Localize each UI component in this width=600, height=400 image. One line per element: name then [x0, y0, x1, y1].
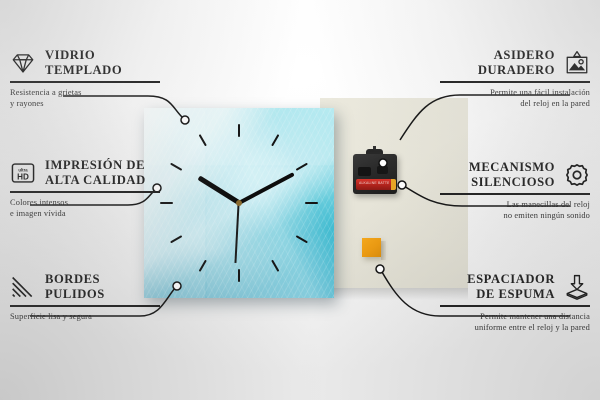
mechanism-detail-left: [358, 167, 371, 176]
feature-vidrio-templado: VIDRIO TEMPLADO Resistencia a grietas y …: [10, 48, 218, 110]
clock-tick: [238, 124, 240, 137]
ultra-hd-small-text: ultra: [18, 167, 28, 172]
diamond-icon: [10, 50, 36, 76]
feature-divider: [10, 81, 160, 82]
clock-tick: [238, 269, 240, 282]
feature-espaciador-espuma: ESPACIADOR DE ESPUMA Permite mantener un…: [382, 272, 590, 334]
clock-tick: [305, 202, 318, 204]
picture-hanger-icon: [564, 50, 590, 76]
feature-description: Permite una fácil instalación del reloj …: [382, 87, 590, 110]
feature-divider: [10, 191, 160, 192]
feature-divider: [440, 193, 590, 194]
feature-divider: [440, 305, 590, 306]
feature-divider: [440, 81, 590, 82]
foam-spacer: [362, 238, 381, 257]
clock-hand-cap: [236, 200, 242, 206]
feature-title: ASIDERO DURADERO: [478, 48, 555, 77]
feature-divider: [10, 305, 160, 306]
feature-title: ESPACIADOR DE ESPUMA: [467, 272, 555, 301]
feature-title: VIDRIO TEMPLADO: [45, 48, 122, 77]
feature-description: Permite mantener una distancia uniforme …: [382, 311, 590, 334]
feature-title: MECANISMO SILENCIOSO: [469, 160, 555, 189]
feature-title: IMPRESIÓN DE ALTA CALIDAD: [45, 158, 146, 187]
feature-title: BORDES PULIDOS: [45, 272, 105, 301]
infographic-canvas: ALKALINE BATTERY AA: [0, 0, 600, 400]
ultra-hd-big-text: HD: [17, 172, 29, 181]
feature-impresion-alta-calidad: ultra HD IMPRESIÓN DE ALTA CALIDAD Color…: [10, 158, 218, 220]
feature-description: Resistencia a grietas y rayones: [10, 87, 218, 110]
feature-bordes-pulidos: BORDES PULIDOS Superficie lisa y segura: [10, 272, 218, 322]
foam-spacer-side: [381, 241, 386, 260]
foam-spacer-arrow-icon: [564, 274, 590, 300]
feature-description: Las manecillas del reloj no emiten ningú…: [382, 199, 590, 222]
feature-description: Colores intensos e imagen vívida: [10, 197, 218, 220]
ultra-hd-badge-icon: ultra HD: [10, 160, 36, 186]
feature-mecanismo-silencioso: MECANISMO SILENCIOSO Las manecillas del …: [382, 160, 590, 222]
polished-edges-icon: [10, 274, 36, 300]
gear-icon: [564, 162, 590, 188]
feature-asidero-duradero: ASIDERO DURADERO Permite una fácil insta…: [382, 48, 590, 110]
feature-description: Superficie lisa y segura: [10, 311, 218, 323]
